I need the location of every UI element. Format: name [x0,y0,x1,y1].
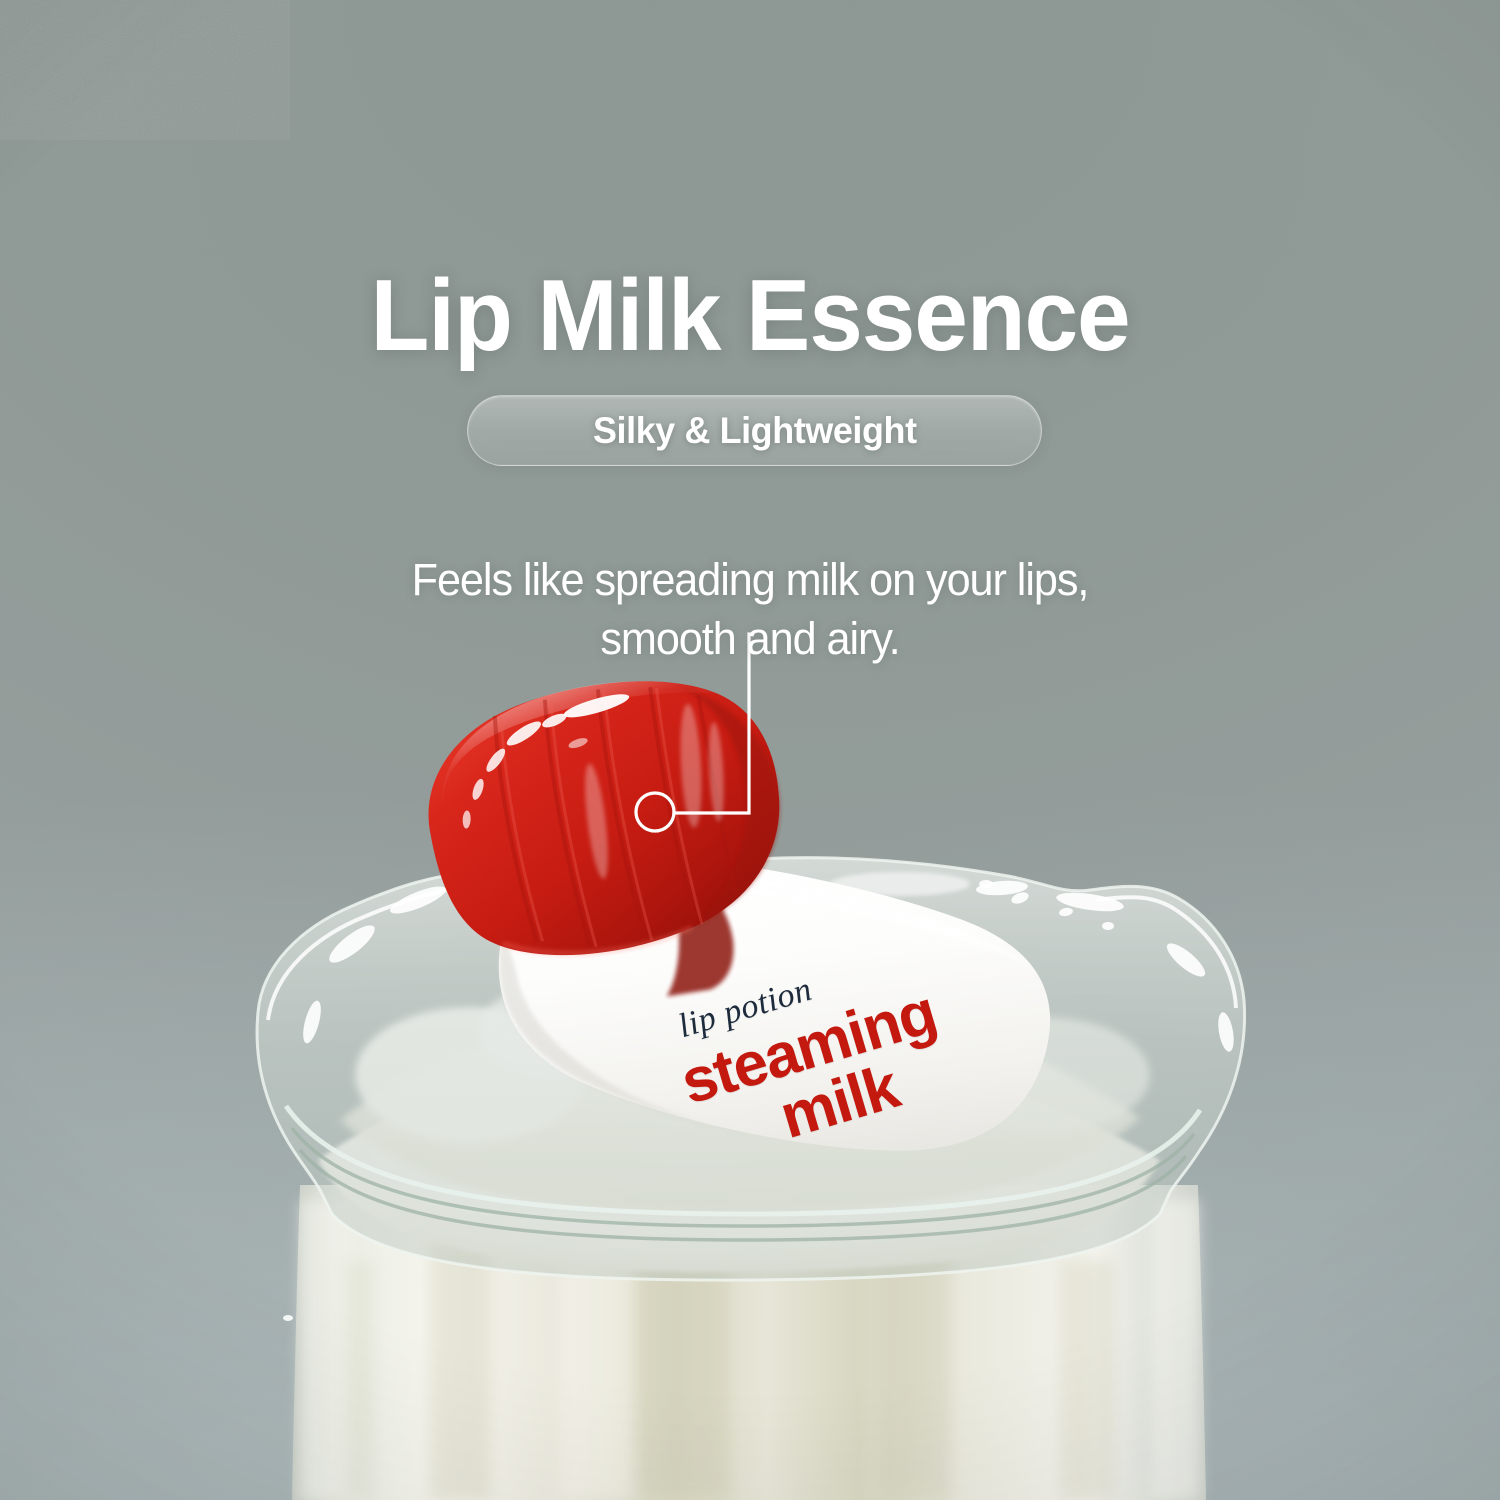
product-hero-image: lip potion steaming milk Lip Milk Essenc… [0,0,1500,1500]
vignette-overlay [0,0,1500,1500]
